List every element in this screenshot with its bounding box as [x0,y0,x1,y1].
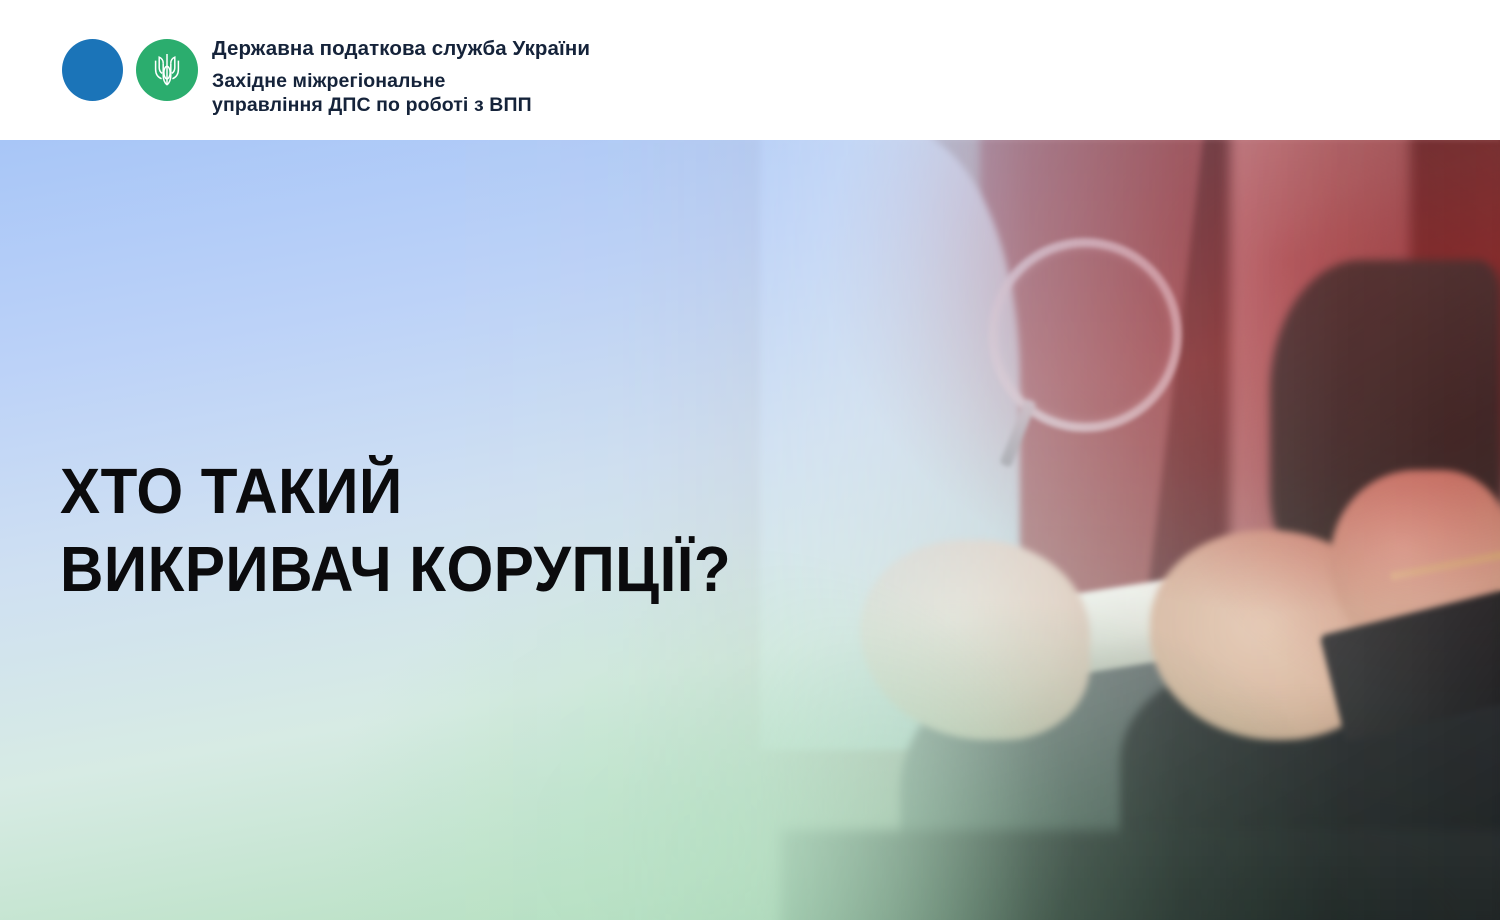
site-header: Державна податкова служба України Західн… [0,0,1500,140]
org-subtitle-line-2: управління ДПС по роботі з ВПП [212,93,590,117]
logo-blue-circle-icon [62,39,123,101]
ukraine-trident-icon [154,51,180,89]
org-title: Державна податкова служба України [212,36,590,62]
headline-line-2: ВИКРИВАЧ КОРУПЦІЇ? [60,530,731,608]
hero-stage: ХТО ТАКИЙ ВИКРИВАЧ КОРУПЦІЇ? [0,140,1500,920]
banner: Державна податкова служба України Західн… [0,0,1500,920]
dps-logo[interactable] [62,39,210,101]
header-org-text: Державна податкова служба України Західн… [212,36,590,117]
headline-line-1: ХТО ТАКИЙ [60,452,731,530]
org-subtitle-line-1: Західне міжрегіональне [212,69,590,93]
page-title: ХТО ТАКИЙ ВИКРИВАЧ КОРУПЦІЇ? [60,452,731,608]
